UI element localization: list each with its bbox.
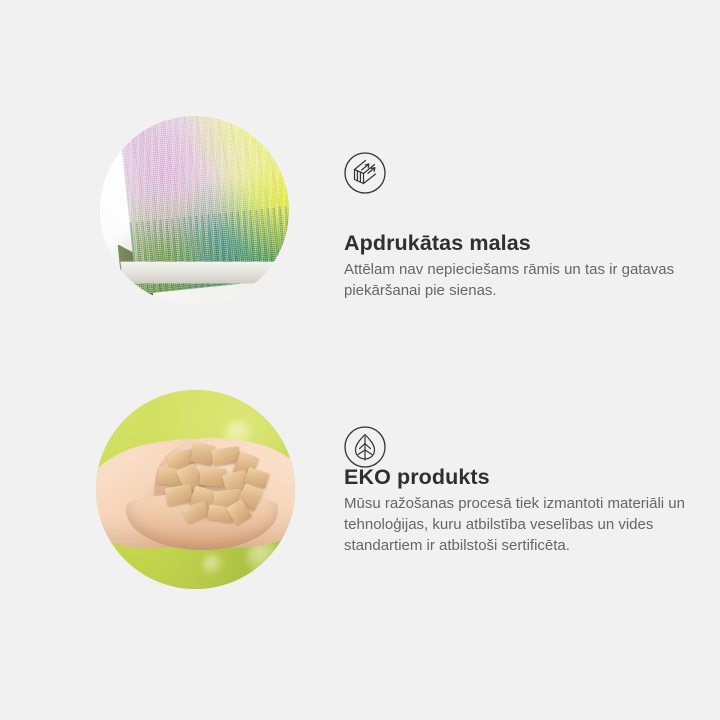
feature-block-eco-product: EKO produkts Mūsu ražošanas procesā tiek… xyxy=(0,382,720,597)
canvas-print-object xyxy=(117,116,289,305)
feature-page: Apdrukātas malas Attēlam nav nepieciešam… xyxy=(0,0,720,720)
feature-title-eco-product: EKO produkts xyxy=(344,464,490,490)
feature-description-printed-edges: Attēlam nav nepieciešams rāmis un tas ir… xyxy=(344,259,694,301)
feature-title-printed-edges: Apdrukātas malas xyxy=(344,230,531,256)
canvas-bottom-edge xyxy=(120,262,289,284)
leaf-icon xyxy=(344,426,386,468)
canvas-folded-edge-icon xyxy=(344,152,386,194)
feature-description-eco-product: Mūsu ražošanas procesā tiek izmantoti ma… xyxy=(344,493,694,556)
printed-canvas-corner-photo xyxy=(100,116,289,305)
hands-holding-wood-chips-photo xyxy=(96,390,295,589)
feature-block-printed-edges: Apdrukātas malas Attēlam nav nepieciešam… xyxy=(0,108,720,338)
bokeh-highlight xyxy=(202,554,224,576)
